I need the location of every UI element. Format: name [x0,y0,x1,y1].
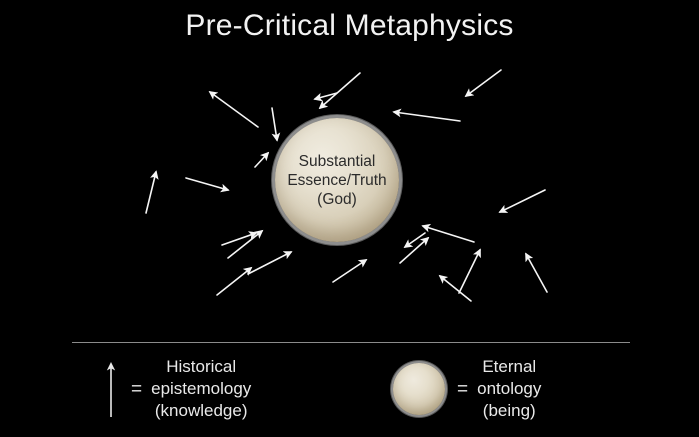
arrow-outward [210,92,258,127]
arrow-inward [228,231,262,258]
legend-equals-sign-right: = [457,380,468,399]
legend-equals-sign-left: = [131,380,142,399]
arrow-outward [423,226,474,242]
arrow-outward [405,233,425,247]
arrow-inward [272,108,277,140]
legend-sphere-shape [393,363,445,415]
arrow-inward [333,260,366,282]
arrow-inward [248,252,291,274]
arrow-inward [320,73,360,108]
slide-canvas: Pre-Critical Metaphysics Substantial Ess… [0,0,699,437]
sphere-icon [388,358,450,420]
arrow-outward [500,190,545,212]
arrow-inward [459,250,480,293]
central-sphere-label: Substantial Essence/Truth (God) [283,152,390,209]
arrow-inward [400,238,428,263]
legend-item-eternal-ontology: = Eternal ontology (being) [388,356,541,422]
arrow-inward [217,268,251,295]
central-sphere-substantial-essence: Substantial Essence/Truth (God) [275,118,399,242]
arrow-inward [394,112,460,121]
arrow-inward [466,70,501,96]
legend-label-left: Historical epistemology (knowledge) [151,356,251,422]
arrow-outward [146,172,156,213]
up-arrow-icon [98,358,124,420]
arrow-inward [186,178,228,190]
legend-divider [72,342,630,343]
arrow-outward [255,153,268,167]
arrow-inward [526,254,547,292]
legend-item-historical-epistemology: = Historical epistemology (knowledge) [98,356,251,422]
legend-label-right: Eternal ontology (being) [477,356,541,422]
